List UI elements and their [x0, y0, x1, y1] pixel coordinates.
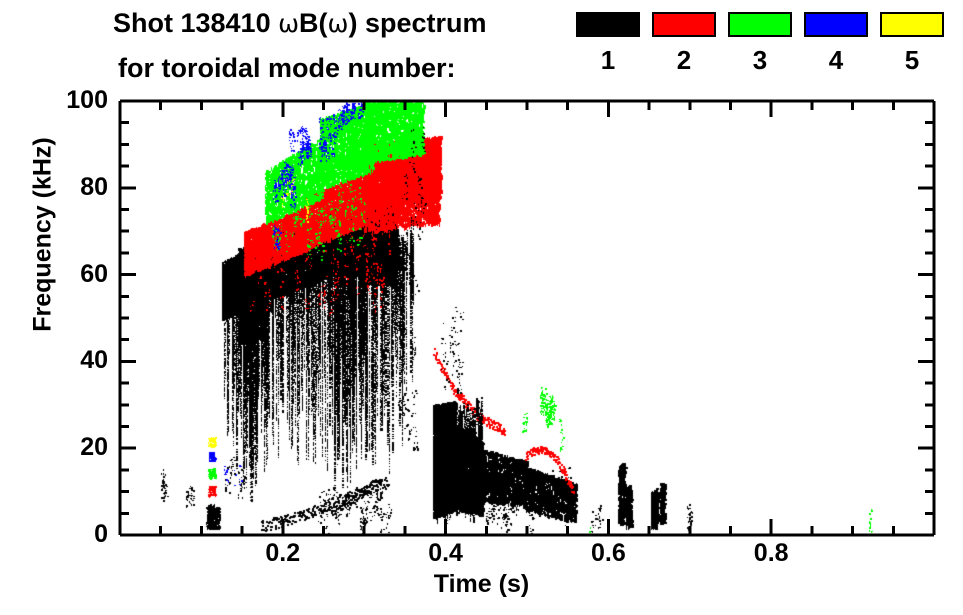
legend-item-mode-n2[interactable]: 2: [652, 12, 716, 73]
legend-swatch-mode-n3: [728, 12, 792, 37]
spectrogram-plot-area: [120, 101, 934, 535]
legend-label-mode-n4: 4: [804, 47, 868, 73]
legend-item-mode-n5[interactable]: 5: [880, 12, 944, 73]
y-tick-label-60: 60: [38, 262, 108, 287]
y-tick-label-20: 20: [38, 435, 108, 460]
title-b-text: B(: [299, 8, 328, 38]
legend: 12345: [576, 12, 956, 88]
x-tick-label-0.4: 0.4: [401, 541, 491, 566]
title-shot-text: Shot 138410: [113, 8, 278, 38]
legend-label-mode-n5: 5: [880, 47, 944, 73]
y-tick-label-40: 40: [38, 348, 108, 373]
x-tick-label-0.6: 0.6: [563, 541, 653, 566]
legend-label-mode-n2: 2: [652, 47, 716, 73]
x-axis-label: Time (s): [0, 570, 963, 599]
legend-item-mode-n3[interactable]: 3: [728, 12, 792, 73]
legend-swatch-mode-n1: [576, 12, 640, 37]
omega-symbol-2: ω: [328, 9, 349, 38]
spectrogram-canvas: [120, 101, 934, 535]
legend-item-mode-n4[interactable]: 4: [804, 12, 868, 73]
legend-label-mode-n3: 3: [728, 47, 792, 73]
legend-item-mode-n1[interactable]: 1: [576, 12, 640, 73]
y-axis-label: Frequency (kHz): [29, 115, 58, 355]
title-spectrum-text: ) spectrum: [348, 8, 486, 38]
y-tick-label-0: 0: [38, 522, 108, 547]
omega-symbol-1: ω: [278, 9, 299, 38]
chart-title-line-2: for toroidal mode number:: [118, 53, 456, 84]
legend-swatch-mode-n4: [804, 12, 868, 37]
legend-swatch-mode-n2: [652, 12, 716, 37]
y-tick-label-100: 100: [38, 88, 108, 113]
y-tick-label-80: 80: [38, 175, 108, 200]
legend-label-mode-n1: 1: [576, 47, 640, 73]
chart-title-line-1: Shot 138410 ωB(ω) spectrum: [113, 8, 487, 39]
x-tick-label-0.2: 0.2: [238, 541, 328, 566]
x-tick-label-0.8: 0.8: [726, 541, 816, 566]
legend-swatch-mode-n5: [880, 12, 944, 37]
